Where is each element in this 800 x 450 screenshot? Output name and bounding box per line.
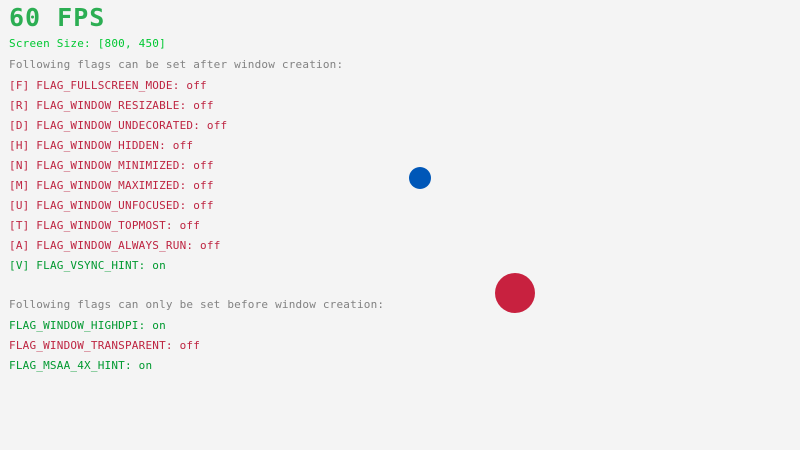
flag-row[interactable]: FLAG_WINDOW_TRANSPARENT: off <box>9 340 200 351</box>
flag-value: off <box>193 99 213 112</box>
flag-row[interactable]: [V] FLAG_VSYNC_HINT: on <box>9 260 166 271</box>
flag-value: on <box>152 259 166 272</box>
flag-row[interactable]: [F] FLAG_FULLSCREEN_MODE: off <box>9 80 207 91</box>
flag-name: FLAG_VSYNC_HINT: <box>36 259 152 272</box>
flag-name: FLAG_WINDOW_TOPMOST: <box>36 219 179 232</box>
flag-name: FLAG_WINDOW_HIDDEN: <box>36 139 172 152</box>
flag-name: FLAG_WINDOW_RESIZABLE: <box>36 99 193 112</box>
flag-name: FLAG_WINDOW_HIGHDPI: <box>9 319 152 332</box>
flag-value: off <box>193 179 213 192</box>
flag-row[interactable]: [A] FLAG_WINDOW_ALWAYS_RUN: off <box>9 240 221 251</box>
blue-ball <box>409 167 431 189</box>
flag-row[interactable]: [H] FLAG_WINDOW_HIDDEN: off <box>9 140 193 151</box>
flag-row[interactable]: [U] FLAG_WINDOW_UNFOCUSED: off <box>9 200 214 211</box>
screen-size-label: Screen Size: [800, 450] <box>9 38 166 49</box>
fps-counter: 60 FPS <box>9 5 105 30</box>
flag-hotkey: [F] <box>9 79 36 92</box>
raylib-window-flags-demo: 60 FPS Screen Size: [800, 450] Following… <box>0 0 800 450</box>
flag-value: off <box>193 199 213 212</box>
flag-hotkey: [R] <box>9 99 36 112</box>
flag-name: FLAG_MSAA_4X_HINT: <box>9 359 139 372</box>
flag-hotkey: [D] <box>9 119 36 132</box>
red-ball <box>495 273 535 313</box>
flag-row[interactable]: [T] FLAG_WINDOW_TOPMOST: off <box>9 220 200 231</box>
flag-value: on <box>139 359 153 372</box>
flag-value: on <box>152 319 166 332</box>
flag-row[interactable]: [N] FLAG_WINDOW_MINIMIZED: off <box>9 160 214 171</box>
flag-row[interactable]: FLAG_WINDOW_HIGHDPI: on <box>9 320 166 331</box>
flag-row[interactable]: [R] FLAG_WINDOW_RESIZABLE: off <box>9 100 214 111</box>
runtime-flags-section-title: Following flags can be set after window … <box>9 59 343 70</box>
flag-row[interactable]: FLAG_MSAA_4X_HINT: on <box>9 360 152 371</box>
flag-value: off <box>180 219 200 232</box>
flag-name: FLAG_WINDOW_UNDECORATED: <box>36 119 207 132</box>
flag-hotkey: [M] <box>9 179 36 192</box>
flag-name: FLAG_WINDOW_MAXIMIZED: <box>36 179 193 192</box>
flag-name: FLAG_FULLSCREEN_MODE: <box>36 79 186 92</box>
flag-value: off <box>200 239 220 252</box>
flag-hotkey: [T] <box>9 219 36 232</box>
flag-hotkey: [N] <box>9 159 36 172</box>
flag-value: off <box>193 159 213 172</box>
flag-hotkey: [H] <box>9 139 36 152</box>
flag-hotkey: [A] <box>9 239 36 252</box>
flag-name: FLAG_WINDOW_UNFOCUSED: <box>36 199 193 212</box>
flag-value: off <box>207 119 227 132</box>
flag-hotkey: [U] <box>9 199 36 212</box>
flag-name: FLAG_WINDOW_ALWAYS_RUN: <box>36 239 200 252</box>
flag-value: off <box>173 139 193 152</box>
flag-name: FLAG_WINDOW_TRANSPARENT: <box>9 339 180 352</box>
flag-hotkey: [V] <box>9 259 36 272</box>
flag-value: off <box>186 79 206 92</box>
flag-name: FLAG_WINDOW_MINIMIZED: <box>36 159 193 172</box>
flag-row[interactable]: [M] FLAG_WINDOW_MAXIMIZED: off <box>9 180 214 191</box>
flag-value: off <box>180 339 200 352</box>
flag-row[interactable]: [D] FLAG_WINDOW_UNDECORATED: off <box>9 120 227 131</box>
startup-flags-section-title: Following flags can only be set before w… <box>9 299 384 310</box>
